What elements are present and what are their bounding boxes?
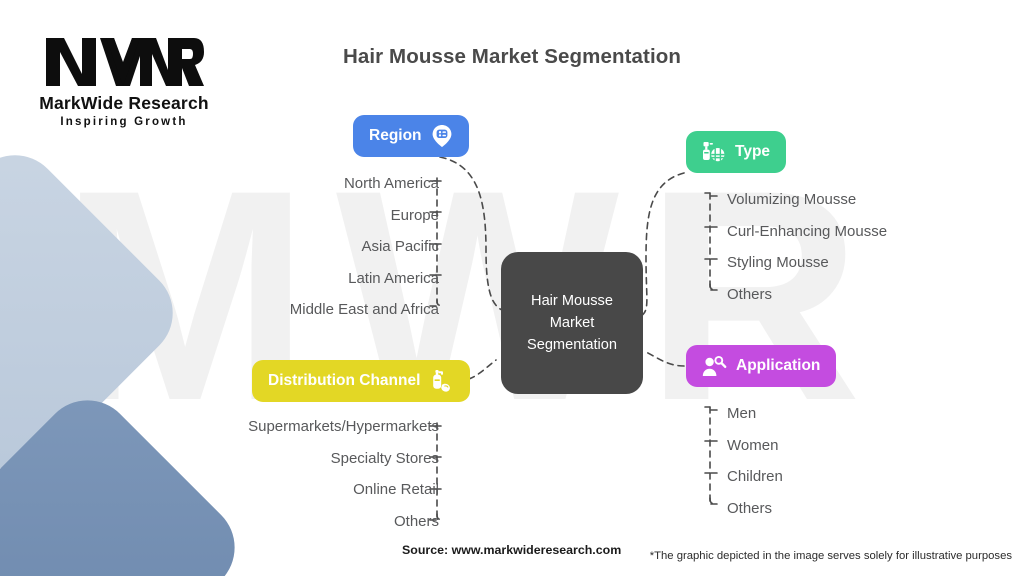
leaf-item[interactable]: Children [727,461,783,493]
leaf-item[interactable]: Volumizing Mousse [727,184,887,216]
people-icon [702,355,727,378]
leaf-list-application: Men Women Children Others [727,398,783,524]
leaf-item[interactable]: Online Retail [248,474,439,506]
disclaimer-text: *The graphic depicted in the image serve… [650,550,1012,562]
leaf-item[interactable]: Europe [290,200,439,232]
infographic-canvas: MWR MarkWide Research Inspiring Growth H… [0,0,1024,576]
badge-label-region: Region [369,127,422,145]
leaf-item[interactable]: Styling Mousse [727,247,887,279]
branch-badge-application[interactable]: Application [686,345,836,387]
leaf-item[interactable]: Women [727,430,783,462]
leaf-item[interactable]: Middle East and Africa [290,294,439,326]
center-line-1: Hair Mousse [531,293,613,309]
center-node[interactable]: Hair Mousse Market Segmentation [501,252,643,394]
leaf-item[interactable]: Curl-Enhancing Mousse [727,216,887,248]
leaf-item[interactable]: Men [727,398,783,430]
leaf-item[interactable]: Asia Pacific [290,231,439,263]
leaf-item[interactable]: Others [727,279,887,311]
center-line-3: Segmentation [527,337,617,353]
center-node-text: Hair Mousse Market Segmentation [527,290,617,356]
location-pin-icon [431,124,453,148]
branch-badge-type[interactable]: Type [686,131,786,173]
leaf-item[interactable]: Others [727,493,783,525]
leaf-item[interactable]: Latin America [290,263,439,295]
badge-label-application: Application [736,357,820,375]
leaf-list-region: North America Europe Asia Pacific Latin … [290,168,439,326]
branch-badge-distribution-channel[interactable]: Distribution Channel [252,360,470,402]
leaf-item[interactable]: North America [290,168,439,200]
badge-label-type: Type [735,143,770,161]
branch-badge-region[interactable]: Region [353,115,469,157]
leaf-list-type: Volumizing Mousse Curl-Enhancing Mousse … [727,184,887,310]
source-text: Source: www.markwideresearch.com [402,543,621,557]
center-line-2: Market [550,315,595,331]
leaf-item[interactable]: Others [248,506,439,538]
pump-bottle-icon [429,369,454,394]
spray-bottle-icon [702,140,726,164]
leaf-item[interactable]: Specialty Stores [248,443,439,475]
leaf-item[interactable]: Supermarkets/Hypermarkets [248,411,439,443]
leaf-list-distribution-channel: Supermarkets/Hypermarkets Specialty Stor… [248,411,439,537]
badge-label-distribution-channel: Distribution Channel [268,372,420,390]
